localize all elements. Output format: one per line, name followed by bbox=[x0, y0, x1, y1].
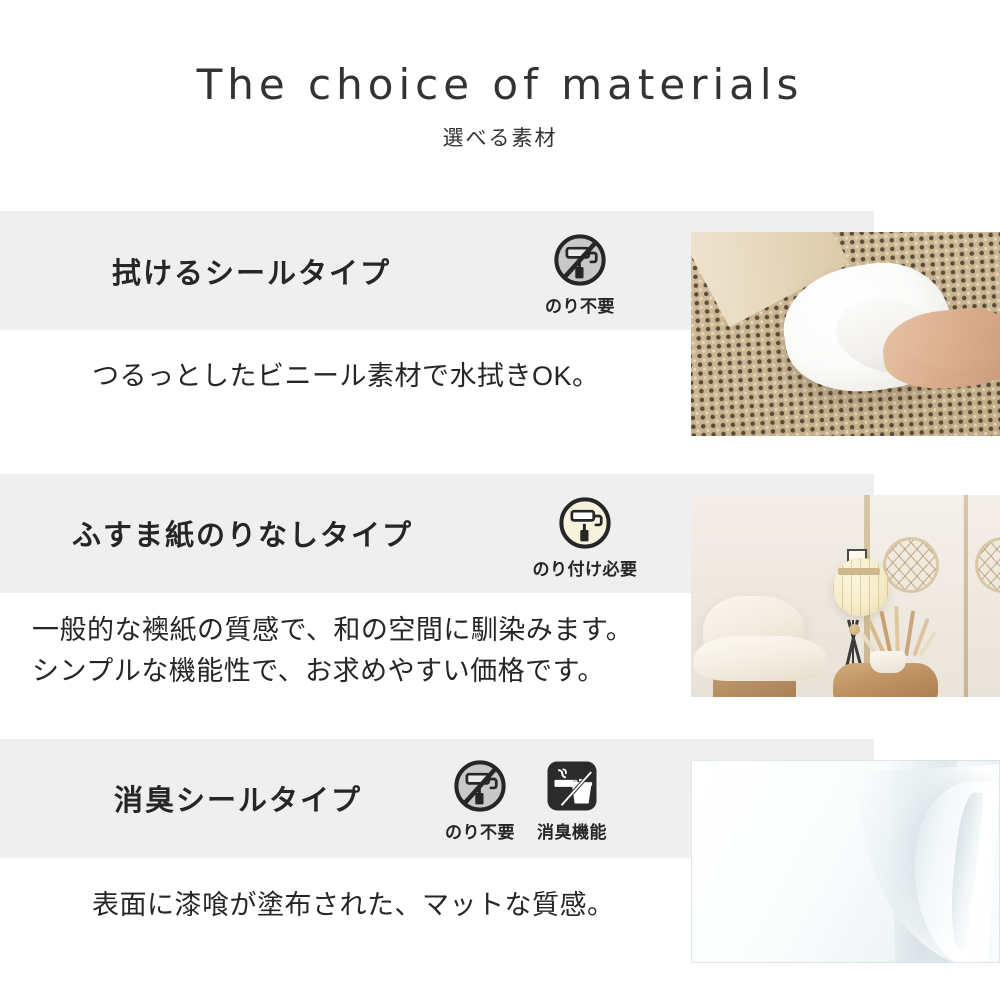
section-3-body: 表面に漆喰が塗布された、マットな質感。 bbox=[92, 885, 615, 926]
page-subtitle: 選べる素材 bbox=[0, 122, 1000, 152]
badge-glue-needed: のり付け必要 bbox=[528, 495, 642, 580]
page-title: The choice of materials bbox=[0, 62, 1000, 108]
section-2-body: 一般的な襖紙の質感で、和の空間に馴染みます。 シンプルな機能性で、お求めやすい価… bbox=[32, 610, 633, 692]
section-3-body-line-1: 表面に漆喰が塗布された、マットな質感。 bbox=[92, 885, 615, 926]
section-3-badges: のり不要 消臭機能 bbox=[443, 758, 609, 843]
paint-roller-no-glue-icon bbox=[452, 758, 508, 814]
section-1-badges: のり不要 bbox=[543, 232, 617, 317]
badge-no-glue: のり不要 bbox=[443, 758, 517, 843]
white-curled-paper-sheet-photo bbox=[691, 760, 1000, 963]
badge-deodorize: 消臭機能 bbox=[535, 758, 609, 843]
badge-no-glue-label: のり不要 bbox=[445, 818, 515, 843]
japanese-room-interior-photo bbox=[691, 495, 1000, 697]
section-2-title: ふすま紙のりなしタイプ bbox=[72, 512, 413, 554]
paint-roller-no-glue-icon bbox=[552, 232, 608, 288]
section-3-title: 消臭シールタイプ bbox=[114, 777, 362, 819]
section-1-body: つるっとしたビニール素材で水拭きOK。 bbox=[92, 356, 600, 397]
section-2-body-line-2: シンプルな機能性で、お求めやすい価格です。 bbox=[32, 651, 633, 692]
page-header: The choice of materials 選べる素材 bbox=[0, 0, 1000, 152]
section-1-title: 拭けるシールタイプ bbox=[112, 250, 391, 292]
badge-deodorize-label: 消臭機能 bbox=[537, 818, 607, 843]
towel-wiping-rattan-mat-photo bbox=[691, 232, 1000, 436]
badge-no-glue-label: のり不要 bbox=[545, 292, 615, 317]
badge-no-glue: のり不要 bbox=[543, 232, 617, 317]
badge-glue-needed-label: のり付け必要 bbox=[533, 555, 638, 580]
deodorize-function-icon bbox=[544, 758, 600, 814]
paint-roller-glue-needed-icon bbox=[557, 495, 613, 551]
section-2-badges: のり付け必要 bbox=[528, 495, 642, 580]
materials-choice-page: The choice of materials 選べる素材 拭けるシールタイプ … bbox=[0, 0, 1000, 1000]
section-2-body-line-1: 一般的な襖紙の質感で、和の空間に馴染みます。 bbox=[32, 610, 633, 651]
section-1-body-line-1: つるっとしたビニール素材で水拭きOK。 bbox=[92, 356, 600, 397]
